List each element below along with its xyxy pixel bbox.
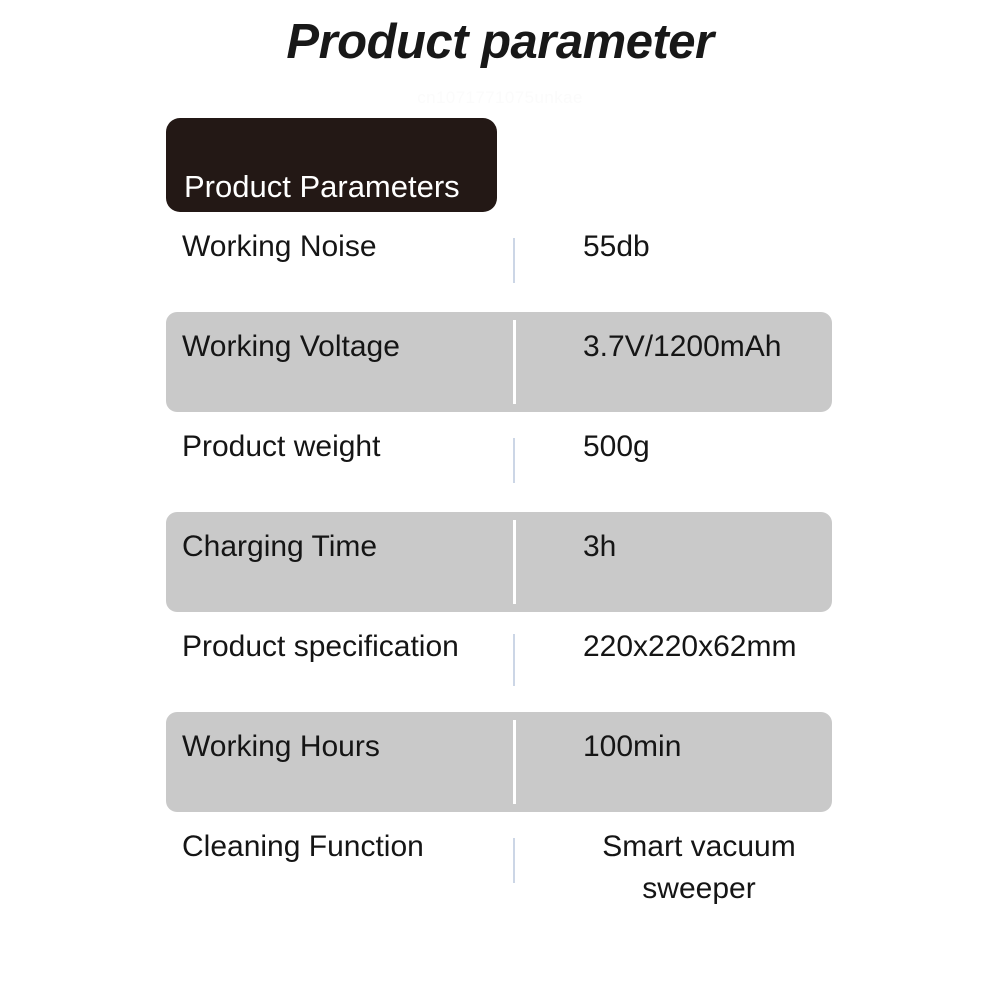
table-header-pill: Product Parameters [166,118,497,212]
row-label: Cleaning Function [182,826,512,868]
table-row: Product weight500g [166,412,832,512]
row-value: Smart vacuum sweeper [566,826,832,910]
table-header-label: Product Parameters [184,169,460,205]
row-value: 3h [583,526,832,568]
column-divider [513,438,515,483]
row-value: 100min [583,726,832,768]
page-title: Product parameter [0,14,1000,70]
row-label: Working Voltage [182,326,512,368]
column-divider [513,320,516,404]
column-divider [513,520,516,604]
row-label: Product weight [182,426,512,468]
row-label: Working Hours [182,726,512,768]
row-label: Charging Time [182,526,512,568]
row-label: Working Noise [182,226,512,268]
column-divider [513,838,515,883]
row-label: Product specification [182,626,512,668]
watermark-text: cn1071771075unkae [0,88,1000,108]
row-value: 3.7V/1200mAh [583,326,832,368]
column-divider [513,720,516,804]
table-row: Working Noise55db [166,212,832,312]
row-value: 55db [583,226,832,268]
column-divider [513,238,515,283]
table-row: Cleaning FunctionSmart vacuum sweeper [166,812,832,912]
table-rows: Working Noise55dbWorking Voltage3.7V/120… [166,212,832,912]
table-row: Working Hours100min [166,712,832,812]
table-row: Working Voltage3.7V/1200mAh [166,312,832,412]
table-row: Product specification220x220x62mm [166,612,832,712]
column-divider [513,634,515,686]
table-row: Charging Time3h [166,512,832,612]
product-parameters-table: Product Parameters Working Noise55dbWork… [166,118,832,912]
row-value: 220x220x62mm [583,626,832,668]
row-value: 500g [583,426,832,468]
